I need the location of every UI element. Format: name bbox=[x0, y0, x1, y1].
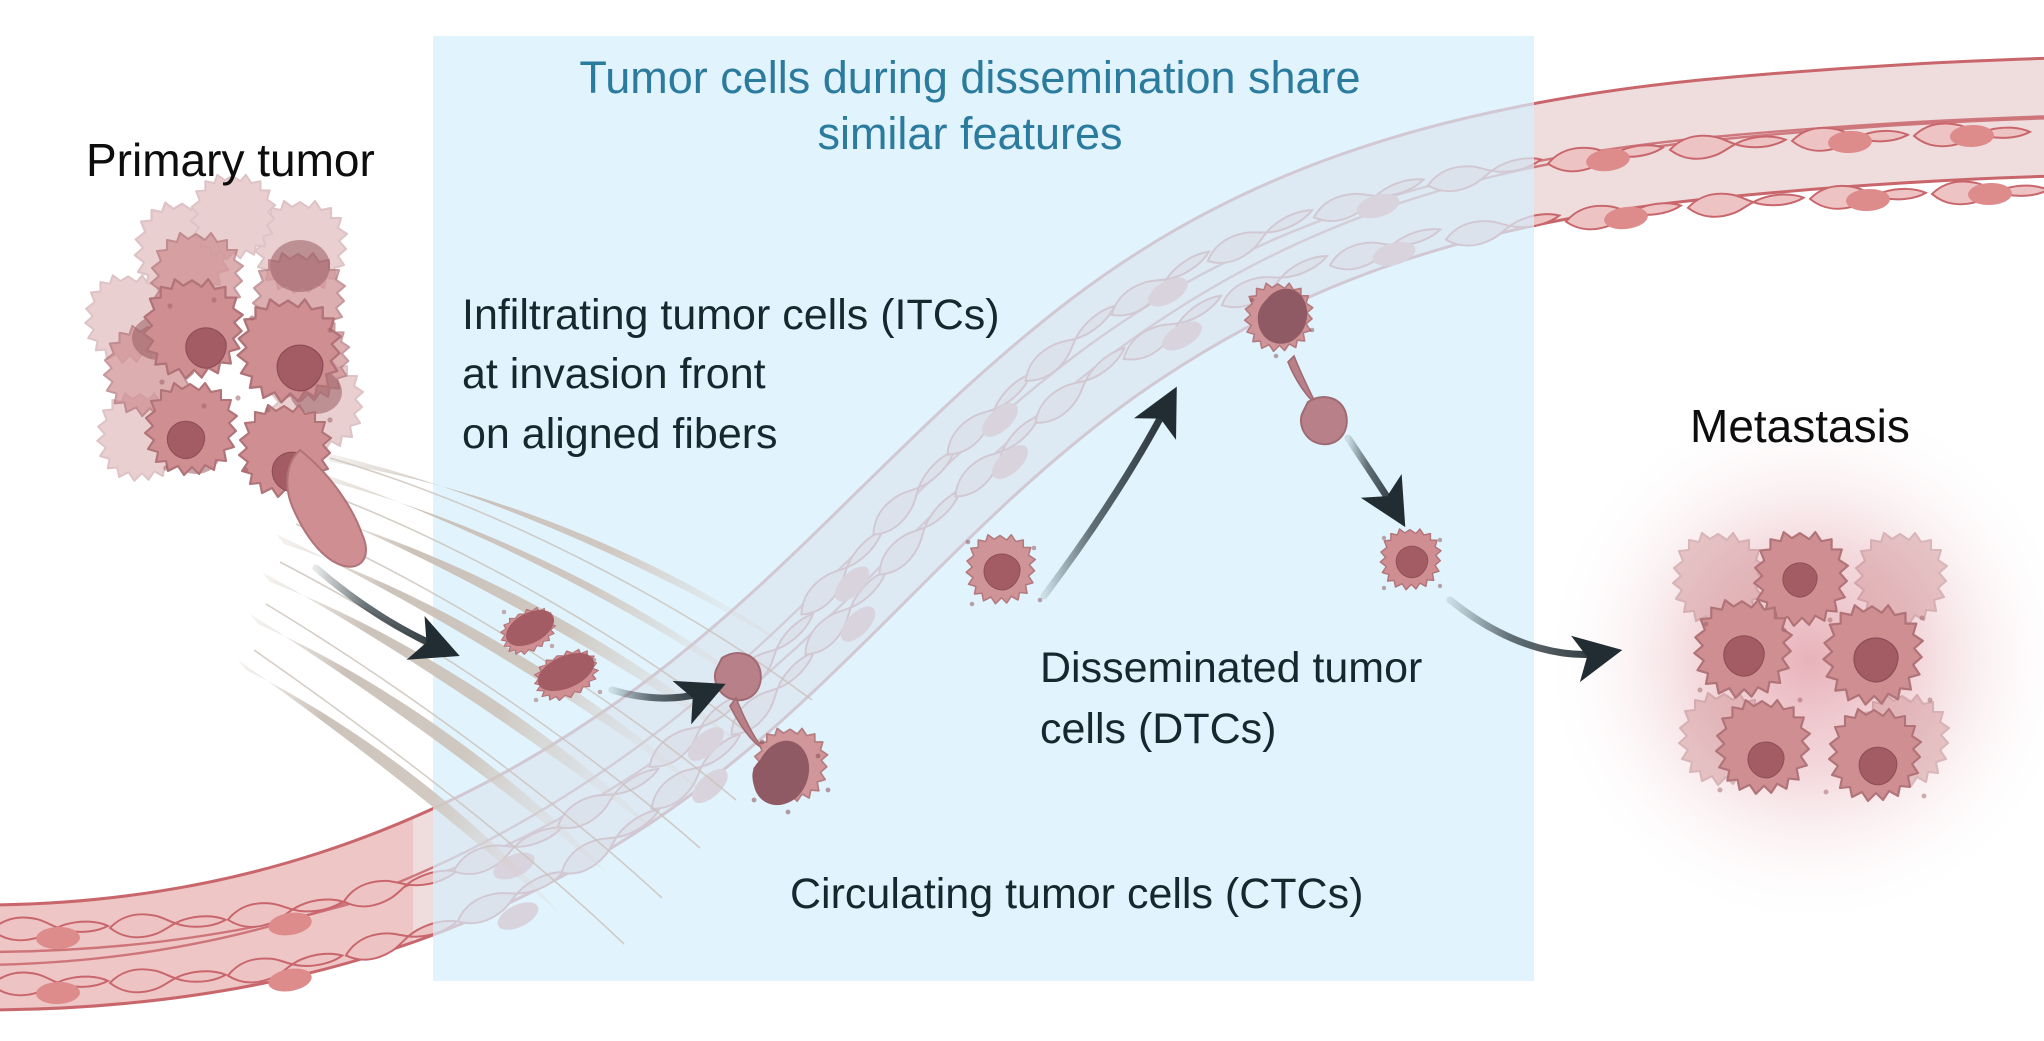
label-metastasis: Metastasis bbox=[1690, 398, 1910, 454]
label-disseminated-tumor-cells: Disseminated tumorcells (DTCs) bbox=[1040, 638, 1510, 760]
panel-title: Tumor cells during dissemination sharesi… bbox=[520, 50, 1420, 163]
primary-tumor-mass bbox=[85, 175, 366, 567]
panel-title-line1: Tumor cells during dissemination share bbox=[579, 52, 1360, 103]
highlight-panel bbox=[433, 36, 1534, 981]
panel-title-line2: similar features bbox=[817, 108, 1122, 159]
label-infiltrating-tumor-cells: Infiltrating tumor cells (ITCs)at invasi… bbox=[462, 286, 1000, 464]
figure-canvas: Tumor cells during dissemination sharesi… bbox=[0, 0, 2044, 1041]
label-circulating-tumor-cells: Circulating tumor cells (CTCs) bbox=[790, 868, 1363, 920]
label-dtc-line2: cells (DTCs) bbox=[1040, 705, 1276, 753]
metastasis-mass bbox=[1540, 390, 2044, 930]
label-itc-line3: on aligned fibers bbox=[462, 410, 778, 458]
label-itc-line2: at invasion front bbox=[462, 350, 766, 398]
label-dtc-line1: Disseminated tumor bbox=[1040, 644, 1422, 692]
label-primary-tumor: Primary tumor bbox=[86, 132, 375, 188]
label-itc-line1: Infiltrating tumor cells (ITCs) bbox=[462, 291, 1000, 339]
